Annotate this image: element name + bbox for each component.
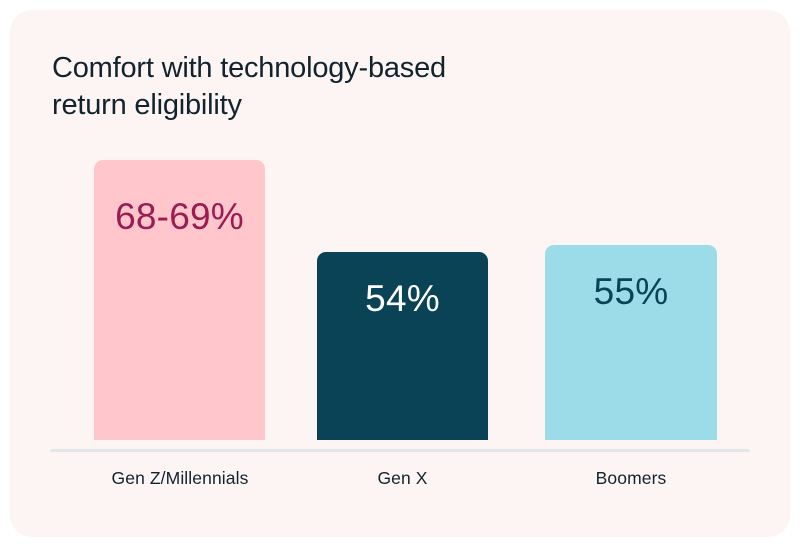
bar-chart-plot-area: 68-69% 54% 55% Gen Z/Millennials Gen X B… xyxy=(10,10,790,537)
bar-boomers[interactable]: 55% xyxy=(545,245,717,440)
category-label-gen-z-millennials: Gen Z/Millennials xyxy=(64,468,296,489)
category-label-boomers: Boomers xyxy=(545,468,717,489)
bar-value-label-boomers: 55% xyxy=(545,273,717,310)
bar-value-label-gen-z-millennials: 68-69% xyxy=(94,198,265,235)
bar-gen-x[interactable]: 54% xyxy=(317,252,488,440)
bar-gen-z-millennials[interactable]: 68-69% xyxy=(94,160,265,440)
bar-series: 68-69% 54% 55% xyxy=(10,10,790,537)
chart-card: Comfort with technology-based return eli… xyxy=(10,10,790,537)
bar-value-label-gen-x: 54% xyxy=(317,280,488,317)
category-label-gen-x: Gen X xyxy=(317,468,488,489)
